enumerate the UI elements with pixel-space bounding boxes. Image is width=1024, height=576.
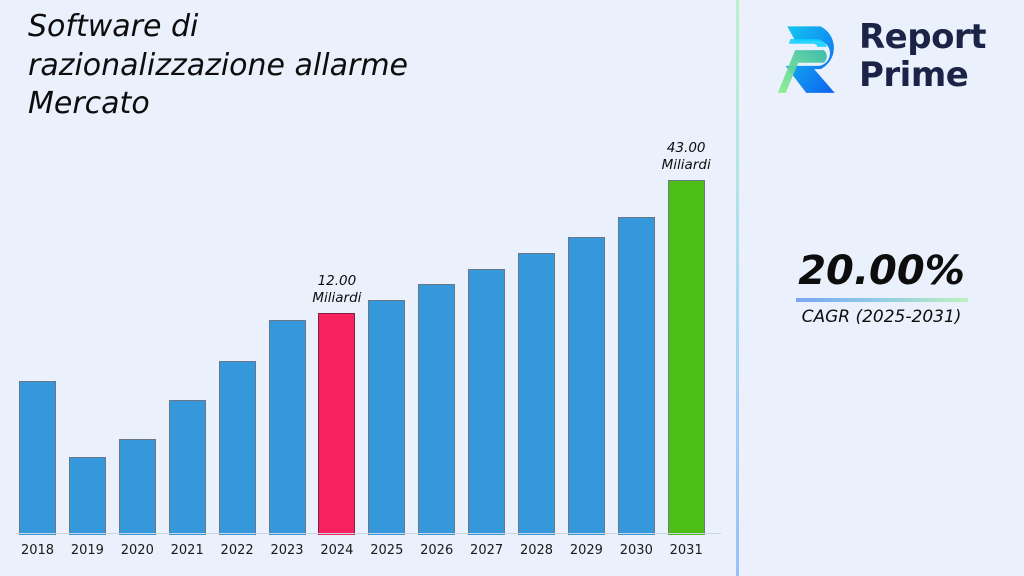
bar-2019[interactable] <box>69 457 106 535</box>
bar-column[interactable] <box>368 2 405 535</box>
x-tick-2026: 2026 <box>418 543 455 558</box>
bar-column[interactable]: 12.00 Miliardi <box>318 2 355 535</box>
bar-value-label-2024: 12.00 Miliardi <box>294 273 380 307</box>
x-tick-2020: 2020 <box>119 543 156 558</box>
bar-2030[interactable] <box>618 217 655 535</box>
bar-column[interactable] <box>618 2 655 535</box>
x-axis-labels: 2018201920202021202220232024202520262027… <box>0 535 737 576</box>
cagr-value: 20.00% <box>739 250 1024 292</box>
bar-column[interactable] <box>269 2 306 535</box>
bar-column[interactable] <box>518 2 555 535</box>
bar-2028[interactable] <box>518 253 555 535</box>
x-tick-2031: 2031 <box>668 543 705 558</box>
bar-2025[interactable] <box>368 300 405 535</box>
bar-column[interactable] <box>568 2 605 535</box>
x-tick-2027: 2027 <box>468 543 505 558</box>
x-tick-2023: 2023 <box>269 543 306 558</box>
x-tick-2025: 2025 <box>368 543 405 558</box>
bar-2018[interactable] <box>19 381 56 535</box>
logo-wordmark: Report Prime <box>859 18 986 94</box>
bar-2027[interactable] <box>468 269 505 535</box>
bar-column[interactable] <box>169 2 206 535</box>
bar-column[interactable] <box>69 2 106 535</box>
screenshot-root: Software di razionalizzazione allarme Me… <box>0 0 1024 576</box>
bar-2026[interactable] <box>418 284 455 535</box>
chart-plot-area: 12.00 Miliardi43.00 Miliardi <box>0 0 737 535</box>
bar-column[interactable] <box>219 2 256 535</box>
side-panel: Report Prime 20.00% CAGR (2025-2031) <box>739 0 1024 576</box>
bar-2020[interactable] <box>119 439 156 535</box>
x-tick-2022: 2022 <box>219 543 256 558</box>
cagr-divider-rule <box>796 298 968 302</box>
bar-2022[interactable] <box>219 361 256 535</box>
bar-2023[interactable] <box>269 320 306 535</box>
bar-2021[interactable] <box>169 400 206 535</box>
bar-column[interactable] <box>468 2 505 535</box>
bar-2029[interactable] <box>568 237 605 535</box>
x-tick-2028: 2028 <box>518 543 555 558</box>
x-axis-line <box>16 533 721 534</box>
bar-column[interactable] <box>19 2 56 535</box>
bar-column[interactable] <box>119 2 156 535</box>
bar-2031[interactable] <box>668 180 705 535</box>
chart-panel: Software di razionalizzazione allarme Me… <box>0 0 737 576</box>
x-tick-2021: 2021 <box>169 543 206 558</box>
report-prime-logo: Report Prime <box>771 12 1001 104</box>
x-tick-2030: 2030 <box>618 543 655 558</box>
cagr-block: 20.00% CAGR (2025-2031) <box>739 250 1024 327</box>
x-tick-2024: 2024 <box>318 543 355 558</box>
bar-column[interactable]: 43.00 Miliardi <box>668 2 705 535</box>
x-tick-2019: 2019 <box>69 543 106 558</box>
x-tick-2018: 2018 <box>19 543 56 558</box>
x-tick-2029: 2029 <box>568 543 605 558</box>
bar-2024[interactable] <box>318 313 355 535</box>
bar-value-label-2031: 43.00 Miliardi <box>643 140 729 174</box>
logo-mark-icon <box>771 20 851 96</box>
bar-column[interactable] <box>418 2 455 535</box>
cagr-caption: CAGR (2025-2031) <box>739 307 1024 327</box>
